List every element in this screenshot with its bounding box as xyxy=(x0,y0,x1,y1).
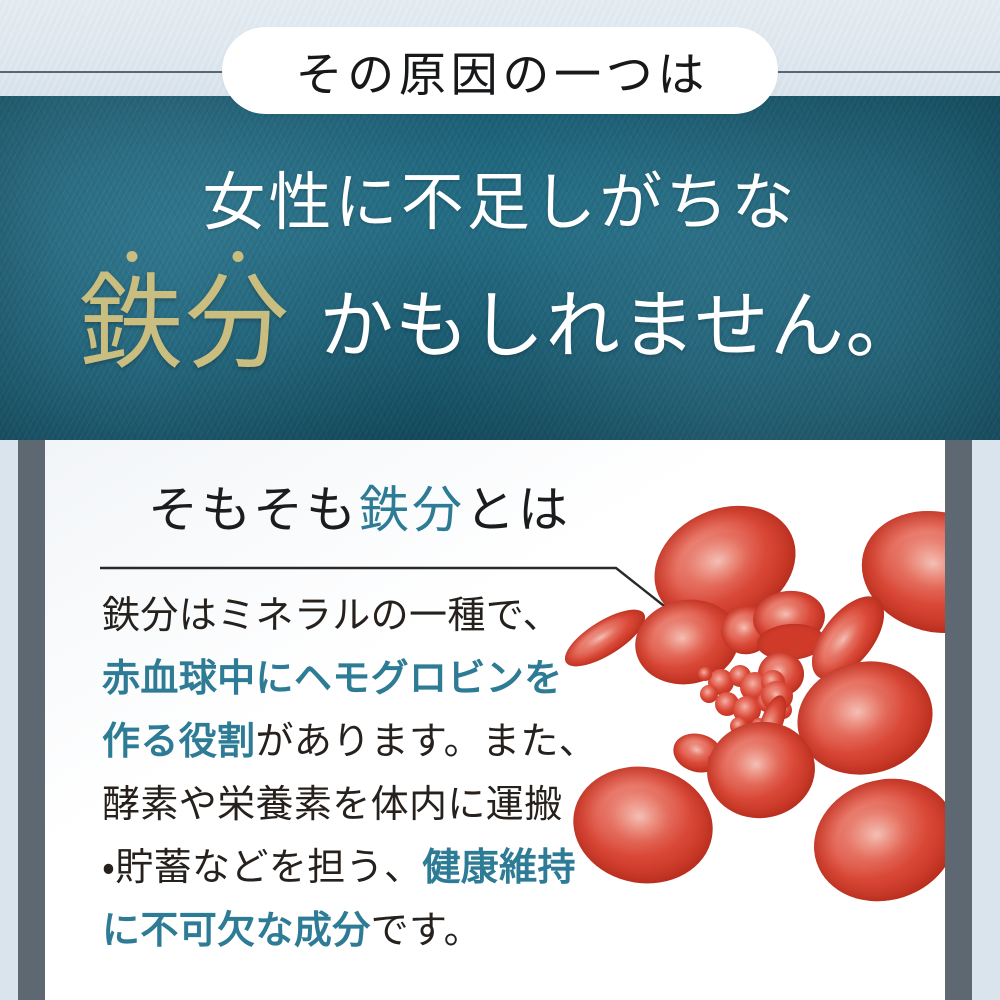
card-heading-accent: 鉄分 xyxy=(359,482,465,538)
card-body-text: 鉄分はミネラルの一種で、赤血球中にヘモグロビンを作る役割があります。また、酵素や… xyxy=(102,585,622,963)
card-body-plain: があります。また、 xyxy=(256,721,598,763)
card-body-line: 赤血球中にヘモグロビンを xyxy=(102,648,622,711)
card-heading-prefix: そもそも xyxy=(148,482,359,538)
hero-emphasis-char-1: 鉄 xyxy=(79,273,185,377)
card-body-plain: 鉄分はミネラルの一種で、 xyxy=(102,595,561,637)
connector-line-left xyxy=(0,71,250,73)
card-body-line: ・貯蓄などを担う、健康維持 xyxy=(102,837,622,900)
card-body-line: に不可欠な成分です。 xyxy=(102,900,622,963)
red-blood-cells-illustration xyxy=(565,490,945,970)
card-body-highlight: 作る役割 xyxy=(102,721,256,763)
card-heading-suffix: とは xyxy=(465,482,571,538)
hero-headline-line1: 女性に不足しがちな xyxy=(0,152,1000,243)
card-body-line: 作る役割があります。また、 xyxy=(102,711,622,774)
hero-headline-line2: 鉄分 かもしれません。 xyxy=(0,265,1000,369)
card-body-plain: です。 xyxy=(371,910,482,952)
hero-headline-rest: かもしれません。 xyxy=(319,286,921,368)
connector-line-right xyxy=(750,71,1000,73)
card-body-line: 鉄分はミネラルの一種で、 xyxy=(102,585,622,648)
card-body-highlight: 健康維持 xyxy=(422,847,576,889)
hero-emphasis-char-2: 分 xyxy=(185,273,291,377)
card-body-highlight: に不可欠な成分 xyxy=(102,910,371,952)
badge-label: その原因の一つは xyxy=(291,36,709,105)
card-body-plain: 酵素や栄養素を体内に運搬 xyxy=(102,784,563,826)
card-body-highlight: 赤血球中にヘモグロビンを xyxy=(102,658,563,700)
badge-pill: その原因の一つは xyxy=(222,27,778,114)
info-card: そもそも鉄分とは 鉄分はミネラルの一種で、赤血球中にヘモグロビンを作る役割があり… xyxy=(45,440,945,1000)
hero-emphasis-iron: 鉄分 xyxy=(79,267,319,382)
card-body-line: 酵素や栄養素を体内に運搬 xyxy=(102,774,622,837)
page-root: その原因の一つは 女性に不足しがちな 鉄分 かもしれません。 そもそも鉄分とは … xyxy=(0,0,1000,1000)
card-heading: そもそも鉄分とは xyxy=(148,470,571,542)
card-body-plain: ・貯蓄などを担う、 xyxy=(102,847,422,889)
